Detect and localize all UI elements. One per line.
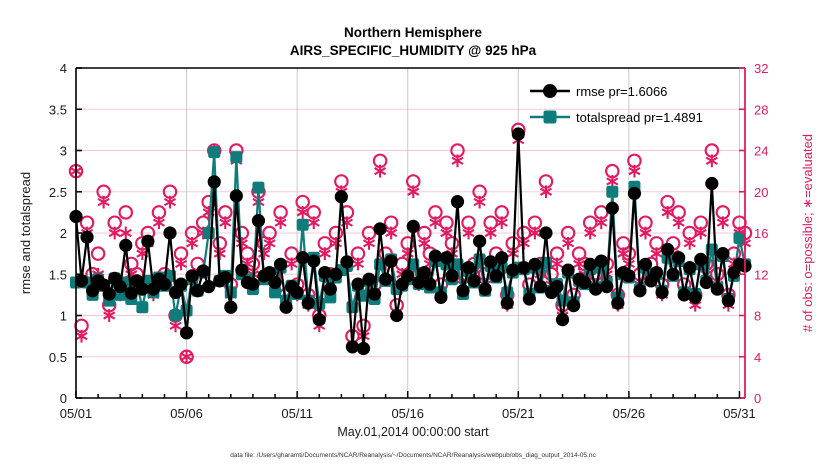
y-axis-left-ticks: 00.511.522.533.54 xyxy=(49,61,82,406)
x-axis-subtitle: May.01,2014 00:00:00 start xyxy=(337,425,489,439)
x-tick-label: 05/21 xyxy=(502,406,535,421)
legend-item-label: totalspread pr=1.4891 xyxy=(576,110,703,125)
y-tick-label: 4 xyxy=(60,61,67,76)
legend-item-label: rmse pr=1.6066 xyxy=(576,84,667,99)
y-tick-right-label: 8 xyxy=(754,309,761,324)
y-tick-right-label: 16 xyxy=(754,226,768,241)
y-tick-label: 1 xyxy=(60,309,67,324)
y-tick-right-label: 12 xyxy=(754,267,768,282)
y-tick-label: 0 xyxy=(60,391,67,406)
x-axis-ticks: 05/0105/0605/1105/1605/2105/2605/31 xyxy=(60,391,756,421)
chart-svg: Northern Hemisphere AIRS_SPECIFIC_HUMIDI… xyxy=(0,0,830,470)
y-tick-label: 3 xyxy=(60,144,67,159)
x-tick-label: 05/26 xyxy=(613,406,646,421)
y-tick-right-label: 28 xyxy=(754,102,768,117)
y-axis-left-label: rmse and totalspread xyxy=(18,172,33,294)
y-tick-label: 3.5 xyxy=(49,102,67,117)
chart-figure: Northern Hemisphere AIRS_SPECIFIC_HUMIDI… xyxy=(0,0,830,470)
y-tick-right-label: 24 xyxy=(754,144,768,159)
y-tick-label: 2 xyxy=(60,226,67,241)
y-tick-label: 0.5 xyxy=(49,350,67,365)
x-tick-label: 05/01 xyxy=(60,406,93,421)
y-tick-right-label: 32 xyxy=(754,61,768,76)
y-tick-right-label: 0 xyxy=(754,391,761,406)
x-tick-label: 05/06 xyxy=(170,406,203,421)
y-axis-right-ticks: 048121620242832 xyxy=(739,61,768,406)
y-tick-right-label: 4 xyxy=(754,350,761,365)
x-tick-label: 05/16 xyxy=(391,406,424,421)
y-tick-label: 1.5 xyxy=(49,267,67,282)
y-tick-label: 2.5 xyxy=(49,185,67,200)
chart-title-line-2: AIRS_SPECIFIC_HUMIDITY @ 925 hPa xyxy=(290,43,537,58)
x-tick-label: 05/31 xyxy=(723,406,756,421)
y-tick-right-label: 20 xyxy=(754,185,768,200)
chart-title-line-1: Northern Hemisphere xyxy=(344,25,483,40)
chart-legend[interactable]: rmse pr=1.6066totalspread pr=1.4891 xyxy=(530,84,703,125)
x-tick-label: 05/11 xyxy=(281,406,313,421)
figure-footer: data file: /Users/gharamti/Documents/NCA… xyxy=(230,452,596,459)
y-axis-right-label: # of obs: o=possible; ∗=evaluated xyxy=(800,134,815,332)
